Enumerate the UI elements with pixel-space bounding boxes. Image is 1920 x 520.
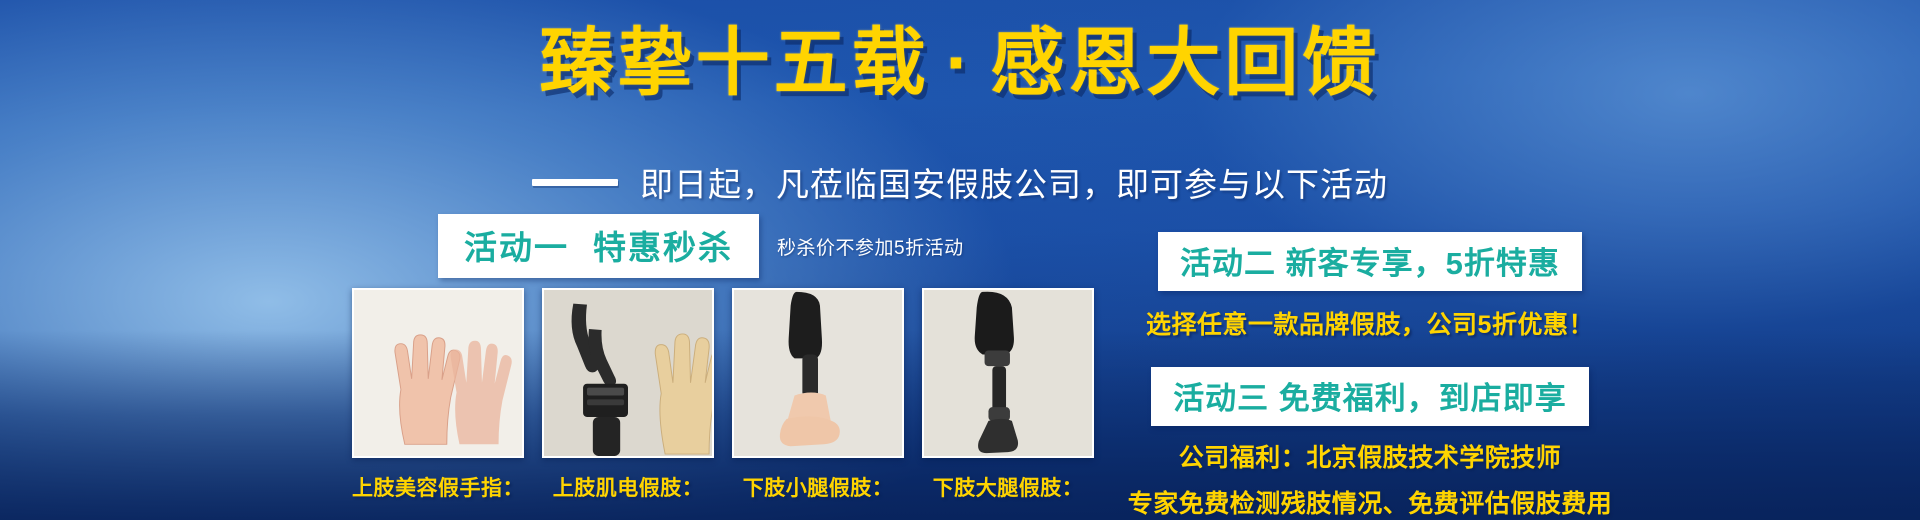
product-list: 上肢美容假手指： 800元 [352, 288, 1094, 520]
product-thumbnail [732, 288, 904, 458]
activity-one-label: 活动一 [464, 229, 569, 266]
headline-left: 臻挚十五载 [540, 21, 930, 104]
product-name: 上肢美容假手指： [352, 472, 524, 502]
activity-two-chip: 活动二 新客专享，5折特惠 [1158, 232, 1582, 291]
product-thumbnail [542, 288, 714, 458]
product-name: 下肢小腿假肢： [732, 472, 904, 502]
activity-three-detail-line2: 专家免费检测残肢情况、免费评估假肢费用 [1128, 484, 1613, 520]
activity-three-detail-line1: 公司福利：北京假肢技术学院技师 [1179, 438, 1562, 474]
product-card[interactable]: 下肢大腿假肢： 9800元 [922, 288, 1094, 520]
page-title: 臻挚十五载·感恩大回馈 [0, 26, 1920, 100]
product-price: 800元 [352, 512, 524, 520]
product-card[interactable]: 下肢小腿假肢： 4800元 [732, 288, 904, 520]
product-card[interactable]: 上肢美容假手指： 800元 [352, 288, 524, 520]
product-price: 9800元 [922, 512, 1094, 520]
activity-one-note: 秒杀价不参加5折活动 [777, 233, 964, 260]
activity-three-chip: 活动三 免费福利，到店即享 [1151, 367, 1589, 426]
headline-right: 感恩大回馈 [990, 21, 1380, 104]
product-price: 4800元 [732, 512, 904, 520]
product-card[interactable]: 上肢肌电假肢： 12800元 [542, 288, 714, 520]
horizontal-rule-icon [532, 179, 618, 186]
headline-separator: · [930, 21, 991, 104]
activity-one-header: 活动一特惠秒杀 秒杀价不参加5折活动 [438, 214, 964, 278]
product-thumbnail [352, 288, 524, 458]
activity-one-chip: 活动一特惠秒杀 [438, 214, 759, 278]
activity-two-detail: 选择任意一款品牌假肢，公司5折优惠！ [1146, 305, 1594, 341]
product-price: 12800元 [542, 512, 714, 520]
activity-one-title: 特惠秒杀 [593, 229, 733, 266]
product-name: 上肢肌电假肢： [542, 472, 714, 502]
product-thumbnail [922, 288, 1094, 458]
subtitle-row: 即日起，凡莅临国安假肢公司，即可参与以下活动 [0, 158, 1920, 206]
promotional-banner: 臻挚十五载·感恩大回馈 即日起，凡莅临国安假肢公司，即可参与以下活动 活动一特惠… [0, 0, 1920, 520]
subtitle-text: 即日起，凡莅临国安假肢公司，即可参与以下活动 [640, 158, 1388, 206]
product-name: 下肢大腿假肢： [922, 472, 1094, 502]
activity-column: 活动二 新客专享，5折特惠 选择任意一款品牌假肢，公司5折优惠！ 活动三 免费福… [1090, 232, 1650, 520]
